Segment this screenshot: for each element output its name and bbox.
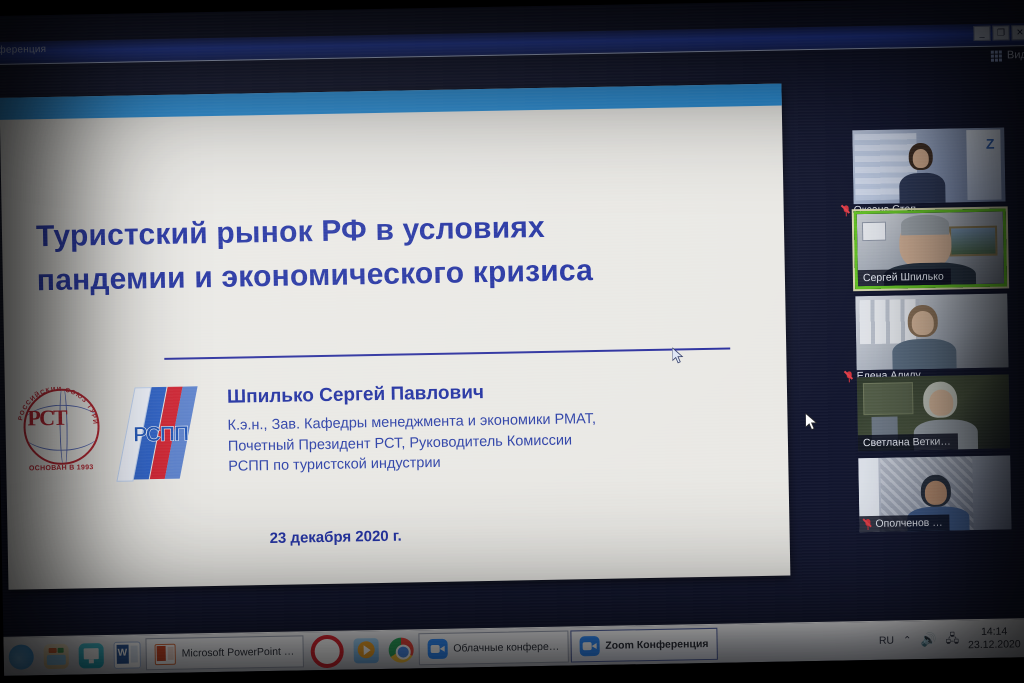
rspp-letters: РСПП — [115, 422, 205, 448]
chrome-icon[interactable] — [388, 637, 413, 662]
participant-strip: Z Оксана Степ… — [852, 127, 1011, 539]
network-icon[interactable]: 🖧 — [945, 629, 959, 650]
participant-tile-3[interactable]: Елена Алилу… — [855, 293, 1008, 370]
clock-time: 14:14 — [968, 625, 1021, 639]
view-menu-button[interactable]: Вид — [991, 49, 1024, 62]
window-controls: _ ❐ ✕ — [973, 25, 1024, 41]
view-menu-label: Вид — [1007, 49, 1024, 61]
taskbar-item-zoom-meeting-label: Zoom Конференция — [605, 638, 708, 652]
close-button[interactable]: ✕ — [1011, 25, 1024, 40]
presenter-block: Шпилько Сергей Павлович К.э.н., Зав. Каф… — [227, 378, 699, 477]
rst-letters: РСТ — [27, 405, 66, 432]
participant-video-3 — [855, 293, 1008, 370]
opera-icon[interactable] — [310, 634, 344, 668]
slide-title: Туристский рынок РФ в условиях пандемии … — [36, 202, 737, 302]
participant-tile-4[interactable]: Светлана Ветки… — [857, 374, 1010, 451]
slide-banner — [0, 84, 782, 120]
participant-tile-1[interactable]: Z Оксана Степ… — [852, 127, 1005, 204]
zoom-titlebar: Zoom Конференция _ ❐ ✕ — [0, 23, 1024, 65]
muted-mic-icon — [843, 205, 850, 216]
word-icon[interactable]: W — [113, 641, 140, 668]
powerpoint-icon — [155, 643, 176, 664]
participant-name-4: Светлана Ветки… — [863, 436, 951, 450]
participant-name-bar-4: Светлана Ветки… — [858, 433, 958, 451]
muted-mic-icon — [864, 518, 871, 529]
grid-view-icon — [991, 50, 1002, 61]
media-player-icon[interactable] — [353, 638, 378, 663]
participant-tile-2[interactable]: Сергей Шпилько — [854, 208, 1007, 289]
show-hidden-icons-chevron-icon[interactable]: ⌃ — [903, 635, 912, 646]
screenshot-root: Zoom Конференция _ ❐ ✕ Вид Туристский ры… — [0, 0, 1024, 683]
clock-date: 23.12.2020 — [968, 638, 1021, 652]
slide-cursor — [672, 347, 684, 365]
shared-slide: Туристский рынок РФ в условиях пандемии … — [0, 84, 790, 590]
zoom-icon — [427, 639, 447, 659]
rspp-logo: РСПП — [111, 386, 205, 480]
participant-video-1: Z — [852, 127, 1005, 204]
volume-icon[interactable]: 🔊 — [920, 632, 936, 648]
restore-button[interactable]: ❐ — [992, 25, 1009, 40]
remote-desktop-icon[interactable] — [79, 643, 104, 668]
desktop-cursor — [805, 413, 817, 431]
monitor-screen: Zoom Конференция _ ❐ ✕ Вид Туристский ры… — [0, 0, 1024, 676]
participant-name-bar-5: Ополченов … — [859, 515, 950, 533]
file-explorer-icon[interactable] — [44, 643, 69, 668]
participant-name-2: Сергей Шпилько — [863, 271, 944, 284]
taskbar-item-zoom-meeting[interactable]: Zoom Конференция — [570, 628, 718, 663]
taskbar-item-powerpoint[interactable]: Microsoft PowerPoint … — [145, 635, 303, 670]
slide-date: 23 декабря 2020 г. — [269, 528, 401, 547]
system-tray: RU ⌃ 🔊 🖧 14:14 23.12.2020 — [879, 625, 1024, 654]
rst-logo: РОССИЙСКИЙ СОЮЗ ТУРИНДУСТРИИ РСТ ОСНОВАН… — [13, 386, 105, 488]
taskbar-clock[interactable]: 14:14 23.12.2020 — [968, 625, 1021, 652]
zoom-icon — [579, 636, 599, 656]
taskbar-item-cloud-conference-label: Облачные конфере… — [453, 641, 559, 655]
muted-mic-icon — [846, 371, 853, 382]
slide-divider — [164, 348, 730, 360]
cloud-icon[interactable] — [9, 644, 34, 669]
participant-name-bar-2: Сергей Шпилько — [858, 268, 951, 286]
language-indicator[interactable]: RU — [879, 635, 894, 647]
participant-name-5: Ополченов … — [875, 517, 943, 530]
participant-tile-5[interactable]: Ополченов … — [858, 455, 1011, 532]
presenter-name: Шпилько Сергей Павлович — [227, 378, 697, 409]
rst-founded-label: ОСНОВАН В 1993 — [16, 464, 106, 473]
zoom-window-title: Zoom Конференция — [0, 44, 46, 57]
taskbar-item-powerpoint-label: Microsoft PowerPoint … — [182, 646, 295, 660]
minimize-button[interactable]: _ — [973, 26, 990, 41]
taskbar-item-cloud-conference[interactable]: Облачные конфере… — [418, 631, 569, 666]
